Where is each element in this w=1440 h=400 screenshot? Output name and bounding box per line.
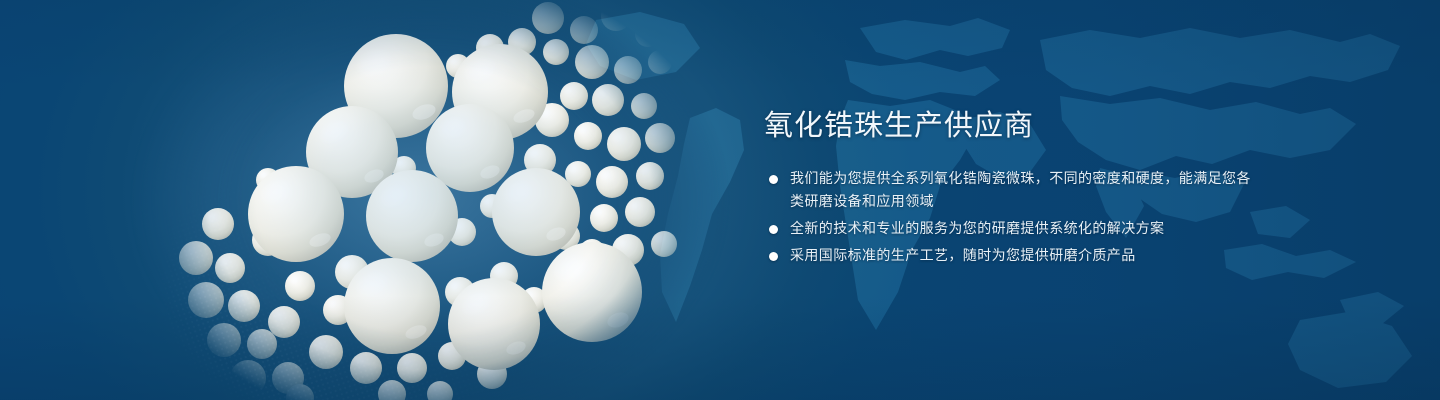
bullet-dot-icon xyxy=(769,225,778,234)
list-item: 我们能为您提供全系列氧化锆陶瓷微珠，不同的密度和硬度，能满足您各类研磨设备和应用… xyxy=(764,168,1264,214)
bullet-text: 全新的技术和专业的服务为您的研磨提供系统化的解决方案 xyxy=(790,218,1264,241)
page-title: 氧化锆珠生产供应商 xyxy=(764,106,1264,144)
hero-banner: 氧化锆珠生产供应商 我们能为您提供全系列氧化锆陶瓷微珠，不同的密度和硬度，能满足… xyxy=(0,0,1440,400)
bullet-text: 我们能为您提供全系列氧化锆陶瓷微珠，不同的密度和硬度，能满足您各类研磨设备和应用… xyxy=(790,168,1264,214)
bullet-dot-icon xyxy=(769,175,778,184)
list-item: 全新的技术和专业的服务为您的研磨提供系统化的解决方案 xyxy=(764,218,1264,241)
banner-copy: 氧化锆珠生产供应商 我们能为您提供全系列氧化锆陶瓷微珠，不同的密度和硬度，能满足… xyxy=(764,106,1264,268)
bullet-text: 采用国际标准的生产工艺，随时为您提供研磨介质产品 xyxy=(790,245,1264,268)
feature-bullet-list: 我们能为您提供全系列氧化锆陶瓷微珠，不同的密度和硬度，能满足您各类研磨设备和应用… xyxy=(764,168,1264,268)
list-item: 采用国际标准的生产工艺，随时为您提供研磨介质产品 xyxy=(764,245,1264,268)
bullet-dot-icon xyxy=(769,252,778,261)
